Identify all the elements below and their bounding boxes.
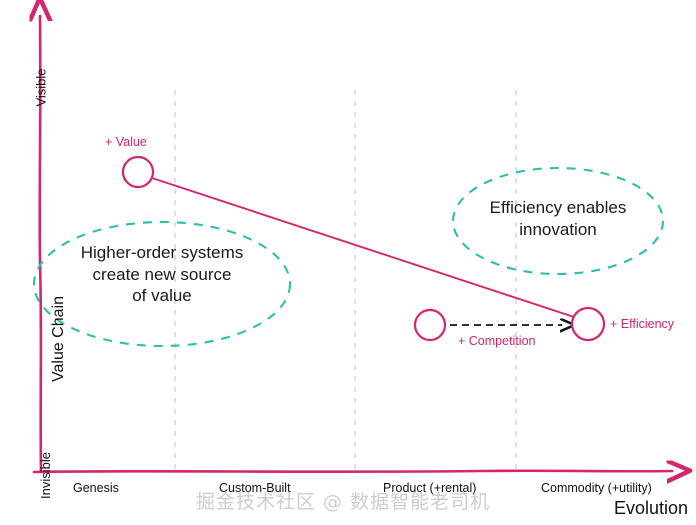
y-axis-bottom-label: Invisible <box>38 452 53 499</box>
wardley-map-canvas: Visible Value Chain Invisible Genesis Cu… <box>0 0 696 525</box>
node-component[interactable] <box>415 310 445 340</box>
annotation-text-higher-order-systems: Higher-order systems create new source o… <box>34 242 290 307</box>
annotation-text-efficiency-enables-innovation: Efficiency enables innovation <box>453 197 663 240</box>
x-axis-title: Evolution <box>614 498 688 519</box>
node-label-value: + Value <box>105 135 147 149</box>
link-label-competition: + Competition <box>458 334 535 348</box>
node-label-efficiency: + Efficiency <box>610 317 674 331</box>
y-axis-title: Value Chain <box>50 296 68 382</box>
x-tick-product-rental: Product (+rental) <box>383 481 476 495</box>
x-tick-genesis: Genesis <box>73 481 119 495</box>
y-axis-top-label: Visible <box>34 68 49 106</box>
x-axis <box>34 471 672 472</box>
node-value[interactable] <box>123 157 153 187</box>
x-tick-custom-built: Custom-Built <box>219 481 291 495</box>
node-efficiency[interactable] <box>572 308 604 340</box>
x-tick-commodity-utility: Commodity (+utility) <box>541 481 652 495</box>
